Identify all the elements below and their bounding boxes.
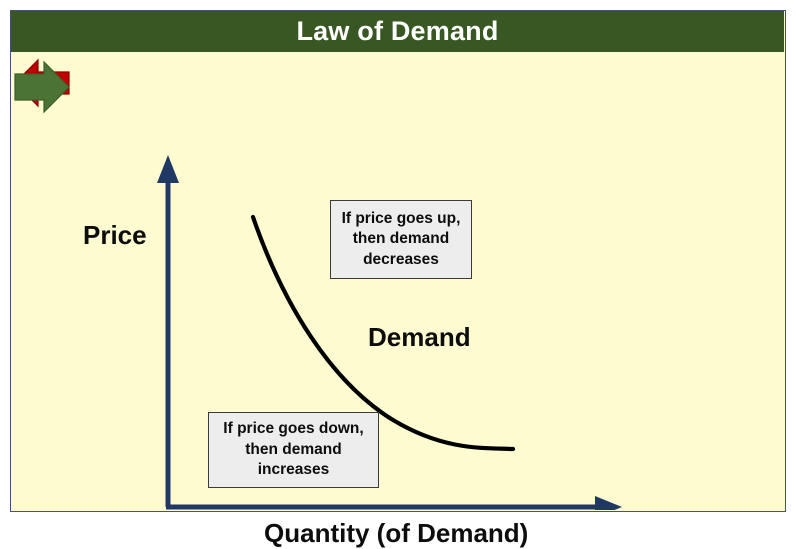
- y-axis-label: Price: [83, 220, 147, 251]
- callout-price-down: If price goes down, then demand increase…: [208, 412, 379, 488]
- title-bar: Law of Demand: [11, 11, 784, 52]
- callout-price-down-line-2: then demand: [245, 440, 341, 460]
- page-title: Law of Demand: [296, 18, 498, 45]
- chart-plot-area: If price goes up, then demand decreases …: [11, 52, 784, 510]
- callout-price-up-line-1: If price goes up,: [342, 209, 461, 229]
- y-axis-arrowhead-icon: [157, 155, 179, 183]
- callout-price-down-line-1: If price goes down,: [223, 419, 363, 439]
- diagram-card: Law of Demand: [10, 10, 786, 512]
- x-axis-label: Quantity (of Demand): [264, 518, 528, 549]
- slide-root: Law of Demand: [0, 0, 800, 525]
- arrow-right-green-icon: [11, 52, 73, 122]
- callout-price-down-line-3: increases: [258, 460, 330, 480]
- demand-curve-label: Demand: [368, 322, 471, 353]
- chart-svg: [11, 52, 784, 510]
- x-axis-arrowhead-icon: [595, 496, 622, 510]
- callout-price-up-line-2: then demand: [353, 229, 449, 249]
- callout-price-up: If price goes up, then demand decreases: [330, 200, 472, 279]
- callout-price-up-line-3: decreases: [363, 250, 439, 270]
